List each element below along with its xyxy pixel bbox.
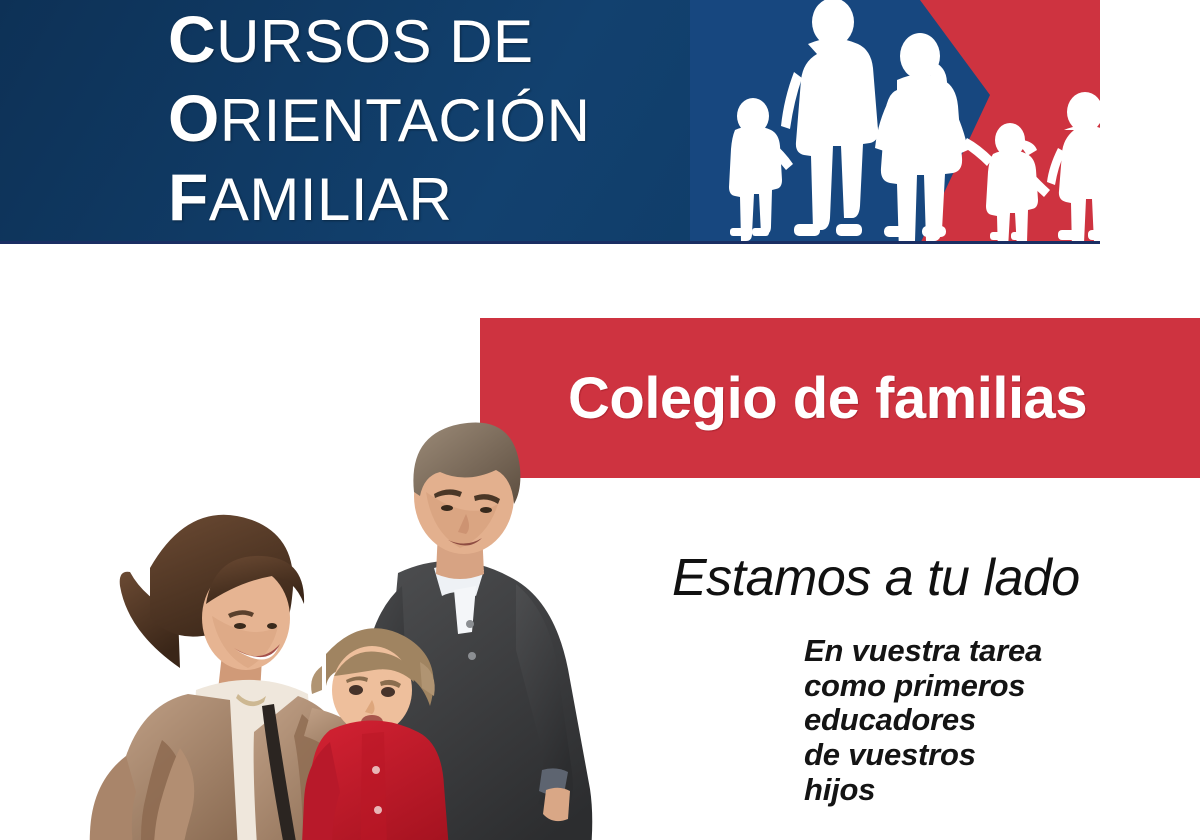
header-right-white-margin bbox=[1100, 0, 1200, 244]
subcopy-line-5: hijos bbox=[804, 773, 1042, 808]
brand-dropcap-f: F bbox=[168, 160, 209, 234]
subcopy-line-4: de vuestros bbox=[804, 738, 1042, 773]
brand-dropcap-c: C bbox=[168, 2, 216, 76]
brand-title-line-3: FAMILIAR bbox=[168, 164, 728, 231]
brand-dropcap-o: O bbox=[168, 81, 220, 155]
brand-title: CURSOS DE ORIENTACIÓN FAMILIAR bbox=[168, 6, 728, 243]
header-banner: CURSOS DE ORIENTACIÓN FAMILIAR bbox=[0, 0, 1200, 244]
brand-title-line-1: CURSOS DE bbox=[168, 6, 728, 73]
brand-rest-3: AMILIAR bbox=[209, 166, 453, 233]
brand-rest-1: URSOS DE bbox=[216, 8, 533, 75]
subcopy-line-2: como primeros bbox=[804, 669, 1042, 704]
subcopy-line-3: educadores bbox=[804, 703, 1042, 738]
brand-rest-2: RIENTACIÓN bbox=[220, 87, 591, 154]
headline-estamos-a-tu-lado: Estamos a tu lado bbox=[672, 548, 1080, 608]
family-walking-photo bbox=[30, 418, 730, 840]
poster-canvas: CURSOS DE ORIENTACIÓN FAMILIAR Colegio d… bbox=[0, 0, 1200, 840]
subcopy-line-1: En vuestra tarea bbox=[804, 634, 1042, 669]
subcopy-block: En vuestra tarea como primeros educadore… bbox=[804, 634, 1042, 808]
brand-title-line-2: ORIENTACIÓN bbox=[168, 85, 728, 152]
